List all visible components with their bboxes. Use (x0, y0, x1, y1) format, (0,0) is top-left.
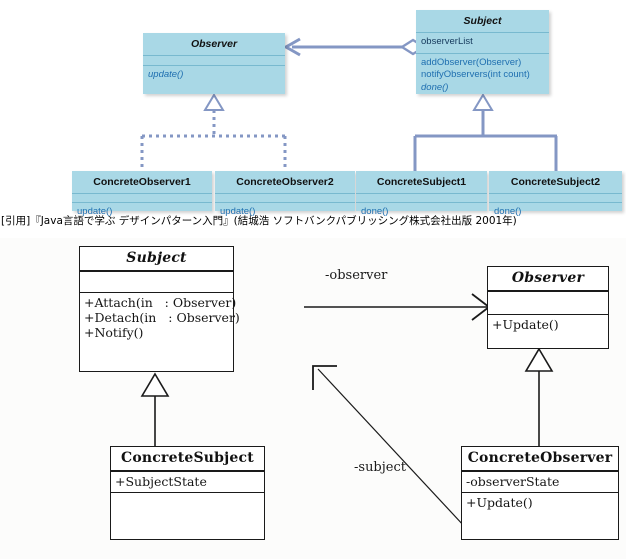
class-title-subject: Subject (80, 247, 233, 270)
class-attributes-concretesubject1 (356, 194, 487, 202)
realization-triangle-icon-observer (205, 95, 223, 110)
class-operations-observer: update() (143, 66, 285, 86)
class-operations-concretesubject (111, 493, 264, 519)
class-box-subject[interactable]: Subject +Attach(in : Observer) +Detach(i… (79, 246, 234, 372)
class-operations-subject: +Attach(in : Observer) +Detach(in : Obse… (80, 293, 233, 343)
generalization-triangle-icon-subject (142, 374, 168, 396)
class-attributes-concreteobserver2 (215, 194, 355, 202)
class-title-concreteobserver2: ConcreteObserver2 (215, 171, 355, 193)
role-label-subject: -subject (354, 460, 406, 475)
class-attributes-concretesubject: +SubjectState (111, 472, 264, 492)
operation-update: +Update() (492, 317, 605, 332)
class-box-concreteobserver1[interactable]: ConcreteObserver1 update() (72, 171, 212, 211)
class-box-concreteobserver[interactable]: ConcreteObserver -observerState +Update(… (461, 446, 619, 540)
operation-update: update() (148, 69, 280, 82)
class-attributes-concretesubject2 (489, 194, 622, 202)
operation-done: done() (421, 82, 544, 95)
class-attributes-subject (80, 272, 233, 292)
class-box-concretesubject2[interactable]: ConcreteSubject2 done() (489, 171, 622, 211)
association-line-concreteobserver-concretesubject (318, 369, 465, 527)
class-title-concreteobserver1: ConcreteObserver1 (72, 171, 212, 193)
class-title-observer: Observer (143, 33, 285, 55)
class-attributes-concreteobserver: -observerState (462, 472, 618, 492)
operation-detach: +Detach(in : Observer) (84, 310, 230, 325)
operation-addobserver: addObserver(Observer) (421, 57, 544, 70)
class-box-observer[interactable]: Observer update() (143, 33, 285, 94)
source-citation-caption: [引用]『Java言語で学ぶ デザインパターン入門』(結城浩 ソフトバンクパブリ… (1, 214, 625, 228)
class-box-concreteobserver2[interactable]: ConcreteObserver2 update() (215, 171, 355, 211)
class-title-concretesubject: ConcreteSubject (111, 447, 264, 470)
class-operations-observer: +Update() (488, 315, 608, 335)
class-title-concretesubject2: ConcreteSubject2 (489, 171, 622, 193)
class-box-concretesubject[interactable]: ConcreteSubject +SubjectState (110, 446, 265, 540)
role-label-observer: -observer (325, 268, 387, 283)
operation-update: +Update() (466, 495, 615, 510)
class-title-observer: Observer (488, 267, 608, 290)
class-box-observer[interactable]: Observer +Update() (487, 266, 609, 349)
class-title-concretesubject1: ConcreteSubject1 (356, 171, 487, 193)
class-attributes-subject: observerList (416, 33, 549, 53)
class-attributes-observer (143, 56, 285, 65)
class-title-subject: Subject (416, 10, 549, 32)
class-attributes-observer (488, 292, 608, 314)
operation-attach: +Attach(in : Observer) (84, 295, 230, 310)
attribute-observerstate: -observerState (466, 474, 615, 489)
class-operations-concreteobserver: +Update() (462, 493, 618, 513)
screenshot-root: Observer update() Subject observerList a… (0, 0, 626, 559)
class-box-concretesubject1[interactable]: ConcreteSubject1 done() (356, 171, 487, 211)
class-box-subject[interactable]: Subject observerList addObserver(Observe… (416, 10, 549, 94)
colored-class-diagram: Observer update() Subject observerList a… (0, 0, 626, 212)
class-title-concreteobserver: ConcreteObserver (462, 447, 618, 470)
operation-notify: +Notify() (84, 325, 230, 340)
gof-class-diagram: Subject +Attach(in : Observer) +Detach(i… (0, 238, 626, 559)
class-operations-subject: addObserver(Observer) notifyObservers(in… (416, 54, 549, 99)
attribute-observerlist: observerList (421, 36, 544, 49)
class-attributes-concreteobserver1 (72, 194, 212, 202)
generalization-triangle-icon-observer (526, 349, 552, 371)
operation-notifyobservers: notifyObservers(int count) (421, 69, 544, 82)
attribute-subjectstate: +SubjectState (115, 474, 261, 489)
